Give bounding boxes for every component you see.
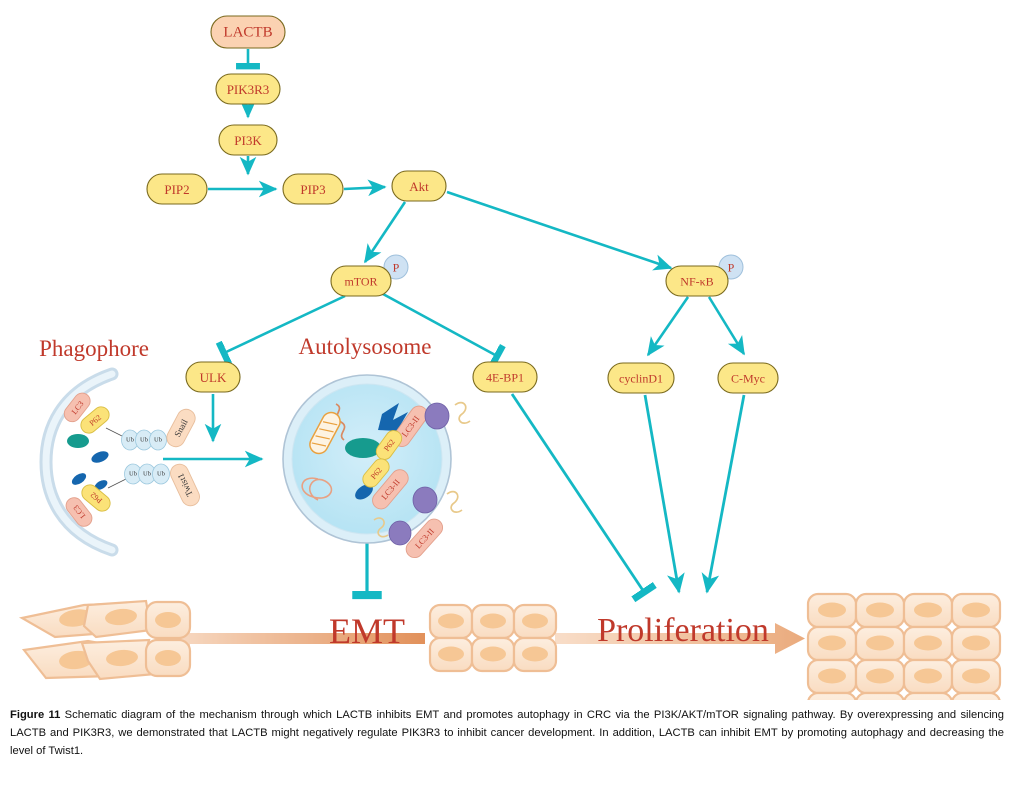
epithelial-nucleus [866, 669, 894, 684]
phagophore-cargo-blob-blue-2 [70, 471, 88, 487]
node-cmyc[interactable]: C-Myc [718, 363, 778, 393]
figure-caption-text: Schematic diagram of the mechanism throu… [10, 709, 1004, 757]
epithelial-cell [904, 693, 952, 700]
autolysosome-organelle: LC3-II P62 LC3-II P62 LC3-II [283, 334, 470, 561]
phagophore-ub-chain-upper: Ub Ub Ub [122, 430, 167, 450]
epithelial-nucleus [155, 650, 181, 666]
node-pi3k[interactable]: PI3K [219, 125, 277, 155]
autolysosome-vesicle-2 [413, 487, 437, 513]
epithelial-nucleus [962, 603, 990, 618]
svg-text:Ub: Ub [140, 437, 148, 444]
epithelial-nucleus [914, 636, 942, 651]
node-nfkb[interactable]: NF-κB [666, 266, 728, 296]
node-cmyc-label: C-Myc [731, 372, 765, 386]
edge-nfkb-cyclind1 [648, 297, 688, 355]
node-pik3r3[interactable]: PIK3R3 [216, 74, 280, 104]
autolysosome-title: Autolysosome [299, 334, 432, 359]
phagophore-cargo-blob-blue-1 [90, 449, 110, 465]
edge-4ebp1-proliferation [512, 394, 644, 592]
epithelial-nucleus [818, 669, 846, 684]
epithelial-nucleus [438, 614, 464, 629]
autolysosome-squiggle-1 [455, 403, 470, 424]
node-mtor-label: mTOR [344, 275, 377, 289]
node-cyclind1[interactable]: cyclinD1 [608, 363, 674, 393]
node-pik3r3-label: PIK3R3 [227, 82, 270, 97]
node-akt-label: Akt [409, 179, 429, 194]
epithelial-cell [856, 693, 904, 700]
node-pip2-label: PIP2 [164, 182, 189, 197]
epithelial-nucleus [914, 603, 942, 618]
phagophore-linker-lower [108, 479, 126, 488]
figure-panel: LC3 P62 Ub Ub Ub Snail LC3 [0, 0, 1014, 798]
epithelial-cell [808, 693, 856, 700]
autolysosome-squiggle-2 [447, 492, 462, 513]
svg-text:Ub: Ub [126, 437, 134, 444]
phospho-badge-mtor-label: P [393, 261, 400, 275]
edge-akt-mtor [365, 202, 405, 262]
autolysosome-vesicle-1 [425, 403, 449, 429]
node-4ebp1[interactable]: 4E-BP1 [473, 362, 537, 392]
epithelial-cluster-mid [430, 605, 556, 671]
epithelial-nucleus [438, 647, 464, 662]
edge-cyclind1-proliferation [645, 395, 679, 592]
node-ulk-label: ULK [200, 370, 227, 385]
node-akt[interactable]: Akt [392, 171, 446, 201]
figure-caption: Figure 11 Schematic diagram of the mecha… [10, 706, 1004, 760]
edge-akt-nfkb [447, 192, 671, 268]
epithelial-nucleus [962, 669, 990, 684]
phagophore-ub-chain-lower: Ub Ub Ub [125, 464, 170, 484]
autolysosome-blob-green [345, 438, 381, 458]
edge-pip3-akt [344, 187, 385, 189]
svg-text:Ub: Ub [157, 471, 165, 478]
epithelial-nucleus [155, 612, 181, 628]
epithelial-nucleus [818, 636, 846, 651]
epithelial-cell [952, 693, 1000, 700]
epithelial-nucleus [522, 647, 548, 662]
phagophore-cargo-blob-green [67, 434, 89, 448]
epithelial-nucleus [914, 669, 942, 684]
edge-cmyc-proliferation [707, 395, 744, 592]
edge-nfkb-cmyc [709, 297, 744, 354]
node-pip3[interactable]: PIP3 [283, 174, 343, 204]
svg-text:Ub: Ub [143, 471, 151, 478]
epithelial-nucleus [866, 603, 894, 618]
epithelial-grid-right [808, 594, 1000, 700]
node-4ebp1-label: 4E-BP1 [486, 371, 524, 385]
node-nfkb-label: NF-κB [680, 275, 713, 289]
outcome-emt-label: EMT [329, 611, 405, 651]
phagophore-title: Phagophore [39, 336, 149, 361]
epithelial-nucleus [480, 647, 506, 662]
autolysosome-vesicle-3 [389, 521, 411, 545]
epithelial-nucleus [818, 603, 846, 618]
node-lactb[interactable]: LACTB [211, 16, 285, 48]
node-ulk[interactable]: ULK [186, 362, 240, 392]
node-mtor[interactable]: mTOR [331, 266, 391, 296]
epithelial-nucleus [522, 614, 548, 629]
node-lactb-label: LACTB [223, 25, 272, 41]
node-pip3-label: PIP3 [300, 182, 325, 197]
svg-text:Ub: Ub [129, 471, 137, 478]
svg-text:Ub: Ub [154, 437, 162, 444]
epithelial-nucleus [962, 636, 990, 651]
phospho-badge-nfkb-label: P [728, 261, 735, 275]
node-pip2[interactable]: PIP2 [147, 174, 207, 204]
phagophore-organelle: LC3 P62 Ub Ub Ub Snail LC3 [39, 336, 202, 550]
phagophore-linker-upper [106, 428, 124, 437]
figure-caption-label: Figure 11 [10, 709, 60, 721]
node-pi3k-label: PI3K [234, 133, 262, 148]
pathway-diagram: LC3 P62 Ub Ub Ub Snail LC3 [0, 0, 1014, 700]
mesenchymal-cells [22, 601, 155, 679]
epithelial-nucleus [480, 614, 506, 629]
node-cyclind1-label: cyclinD1 [619, 372, 663, 386]
outcome-proliferation-label: Proliferation [597, 612, 769, 649]
epithelial-nucleus [866, 636, 894, 651]
